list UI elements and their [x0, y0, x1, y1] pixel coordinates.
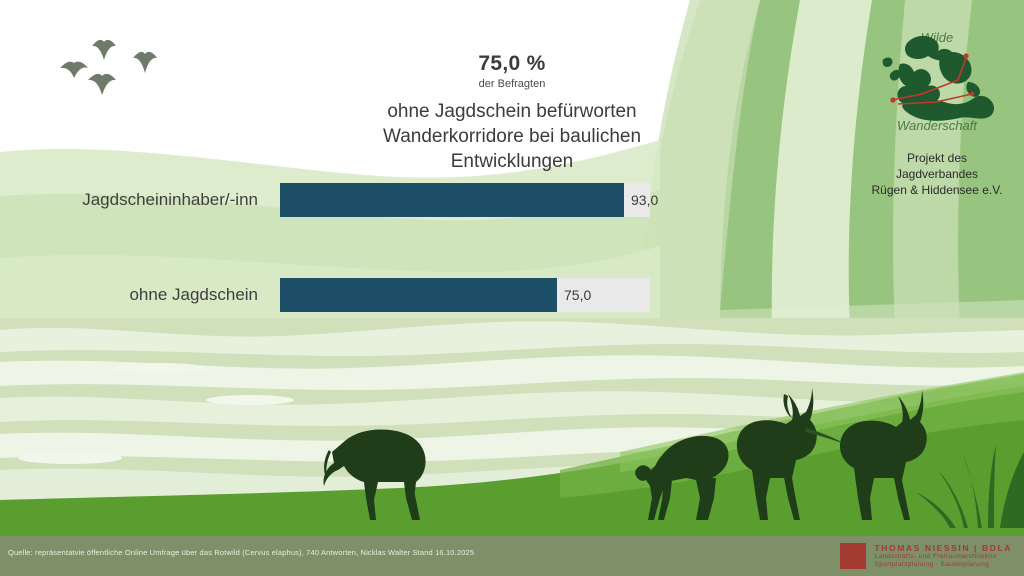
headline-line-2: Wanderkorridore bei baulichen: [312, 124, 712, 149]
logo-caption: Projekt des Jagdverbandes Rügen & Hidden…: [862, 150, 1012, 199]
agency-line-2: Sportplatzplanung · Bauleitplanung: [874, 561, 1012, 569]
footer-bar: Quelle: repräsentatvie öffentliche Onlin…: [0, 536, 1024, 576]
table-row: Jagdscheininhaber/-inn 93,0: [0, 183, 650, 217]
agency-line-1: Landschafts- und Freiraumarchitektur: [874, 553, 1012, 561]
infographic-root: 75,0 % der Befragten ohne Jagdschein bef…: [0, 0, 1024, 576]
agency-name: THOMAS NIESSIN | BDLA: [874, 543, 1012, 554]
logo-mark: Wilde Wan: [862, 8, 1012, 148]
headline-line-1: ohne Jagdschein befürworten: [312, 99, 712, 124]
logo-word-bottom: Wanderschaft: [862, 118, 1012, 133]
headline-block: 75,0 % der Befragten ohne Jagdschein bef…: [312, 52, 712, 174]
headline-percent: 75,0 %: [312, 52, 712, 75]
agency-mark-icon: [840, 543, 866, 569]
bar-fill: [280, 183, 624, 217]
headline-subtitle: der Befragten: [312, 78, 712, 90]
headline-line-3: Entwicklungen: [312, 149, 712, 174]
bar-value-label: 75,0: [557, 278, 591, 312]
logo-caption-line-3: Rügen & Hiddensee e.V.: [862, 182, 1012, 198]
bar-category-label: ohne Jagdschein: [0, 285, 280, 305]
bar-track: 93,0: [280, 183, 650, 217]
bar-track: 75,0: [280, 278, 650, 312]
source-note: Quelle: repräsentatvie öffentliche Onlin…: [8, 548, 474, 557]
agency-logo: THOMAS NIESSIN | BDLA Landschafts- und F…: [840, 541, 1012, 571]
bar-fill: [280, 278, 557, 312]
bar-value-label: 93,0: [624, 183, 658, 217]
logo-caption-line-2: Jagdverbandes: [862, 166, 1012, 182]
bar-category-label: Jagdscheininhaber/-inn: [0, 190, 280, 210]
project-logo: Wilde Wan: [862, 8, 1012, 199]
logo-caption-line-1: Projekt des: [862, 150, 1012, 166]
table-row: ohne Jagdschein 75,0: [0, 278, 650, 312]
